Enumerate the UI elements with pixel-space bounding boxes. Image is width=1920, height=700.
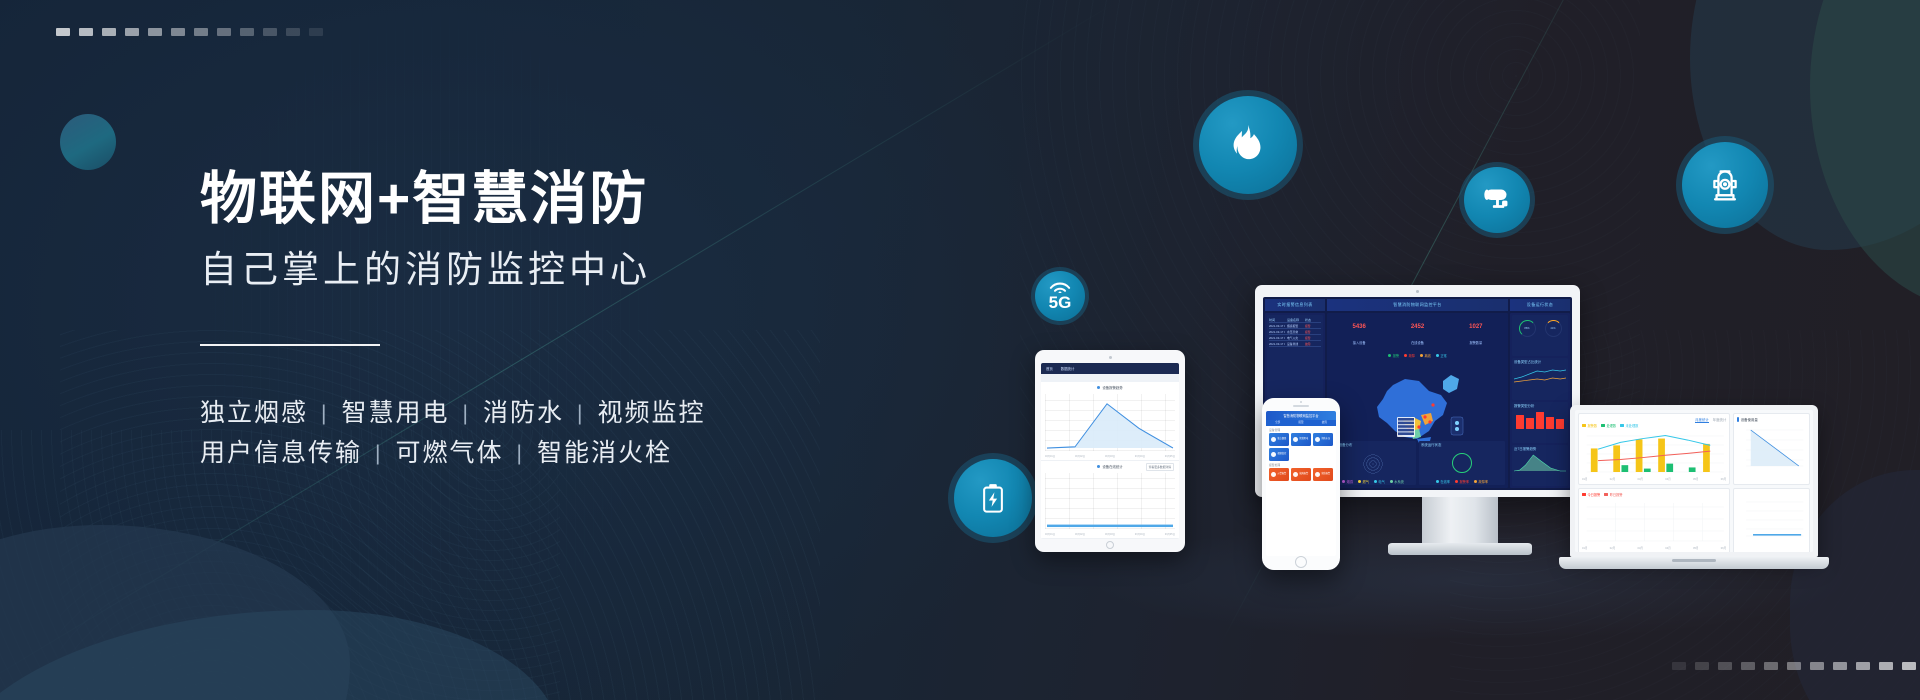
laptop-line-chart-card: 设备使用量 bbox=[1733, 413, 1810, 485]
dash-mark bbox=[1879, 662, 1893, 670]
tablet-chart-section-2: 查看更多数据详情 设备在线统计 03月01日03月02日03月03日03月04日… bbox=[1041, 461, 1179, 540]
tile-label: 故障报警 bbox=[1299, 473, 1308, 476]
axis-tick: 03月03日 bbox=[1105, 532, 1115, 536]
nav-item[interactable]: 首页 bbox=[1046, 366, 1053, 371]
axis-tick: 06月 bbox=[1721, 546, 1726, 550]
ripple-graphic bbox=[1362, 453, 1384, 475]
sparkline bbox=[1514, 365, 1566, 385]
tile-label: 消防水压 bbox=[1321, 438, 1330, 441]
chart-legend: 报警数处理数未处理数 bbox=[1582, 423, 1726, 428]
tablet-chart-section-1: 设备报警趋势 03月01日03月02日03月03日03月04日03月05日 bbox=[1041, 382, 1179, 461]
bar bbox=[1703, 444, 1710, 472]
dash-mark bbox=[263, 28, 277, 36]
table-header-cell: 状态 bbox=[1305, 318, 1321, 322]
tablet-camera-dot bbox=[1109, 356, 1112, 359]
bottom-grid-plot bbox=[1582, 499, 1726, 545]
area-chart bbox=[1514, 452, 1566, 472]
weekly-trend-panel: 近7日报警趋势 bbox=[1512, 445, 1568, 486]
laptop-screen: 月度统计年度统计 报警数处理数未处理数 01月02月03月04月05月06月 设… bbox=[1575, 410, 1813, 552]
feature-item[interactable]: 智能消火栓 bbox=[537, 434, 672, 474]
legend-item: 故障率 bbox=[1474, 479, 1488, 484]
table-cell: 2021-03-17 15:22 bbox=[1269, 330, 1285, 334]
dash-mark bbox=[102, 28, 116, 36]
phone-tile[interactable]: 故障报警 bbox=[1291, 468, 1311, 481]
axis-tick: 03月01日 bbox=[1045, 532, 1055, 536]
phone-group-label-2: 报警处理 bbox=[1266, 461, 1336, 468]
tile-label: 独立烟感 bbox=[1278, 438, 1287, 441]
legend-item: 昨日报警 bbox=[1604, 492, 1622, 497]
monitor-bottom-panels: 区域设备分布 烟感燃气电气水系统 系统运行状态 在线率报警率故障率 bbox=[1330, 441, 1505, 485]
axis-tick: 05月 bbox=[1693, 546, 1698, 550]
tablet-subbar bbox=[1041, 374, 1179, 382]
axis-tick: 03月04日 bbox=[1135, 532, 1145, 536]
legend-item: 正常 bbox=[1436, 353, 1447, 358]
feature-list: 独立烟感|智慧用电|消防水|视频监控 用户信息传输|可燃气体|智能消火栓 bbox=[200, 394, 705, 473]
dash-mark bbox=[1810, 662, 1824, 670]
bottom-panel-left: 区域设备分布 烟感燃气电气水系统 bbox=[1330, 441, 1416, 485]
monitor-panel-title-center: 智慧消防物联网监控平台 bbox=[1327, 299, 1508, 311]
bar bbox=[1613, 445, 1620, 472]
tablet-screen: 首页数据统计 设备报警趋势 03月01日03月02日03月03日03月04日03… bbox=[1041, 363, 1179, 539]
decorative-circle-top-left bbox=[60, 114, 116, 170]
bottom-legend: 今日报警昨日报警 bbox=[1582, 492, 1726, 497]
tile-icon bbox=[1293, 472, 1298, 477]
table-cell: 2021-03-17 12:51 bbox=[1269, 342, 1285, 346]
feature-separator: | bbox=[577, 397, 584, 430]
phone-blue-tiles[interactable]: 独立烟感智慧用电消防水压视频监控 bbox=[1266, 433, 1336, 461]
legend-item: 今日报警 bbox=[1582, 492, 1600, 497]
phone-group-label-1: 设备管理 bbox=[1266, 426, 1336, 433]
legend-item: 处理数 bbox=[1601, 423, 1616, 428]
flame-icon bbox=[1225, 122, 1271, 168]
phone-screen: 智慧消防物联网监控平台 全部报警故障 设备管理 独立烟感智慧用电消防水压视频监控… bbox=[1266, 411, 1336, 556]
feature-separator: | bbox=[321, 397, 328, 430]
kpi-value: 5436 bbox=[1352, 324, 1365, 331]
trend-panel: 设备类型占比统计 bbox=[1512, 358, 1568, 399]
table-cell: 报警 bbox=[1305, 330, 1321, 334]
axis-tick: 02月 bbox=[1610, 477, 1615, 481]
tablet-home-button[interactable] bbox=[1106, 541, 1114, 549]
dash-mark bbox=[240, 28, 254, 36]
cctv-camera-icon bbox=[1478, 181, 1516, 219]
battery-charge-icon bbox=[974, 479, 1012, 517]
dash-mark bbox=[1764, 662, 1778, 670]
dash-mark bbox=[1856, 662, 1870, 670]
axis-tick: 04月 bbox=[1665, 546, 1670, 550]
5g-label: 5G bbox=[1049, 294, 1072, 311]
line-chart-plot bbox=[1737, 424, 1806, 470]
camera-badge[interactable] bbox=[1459, 162, 1535, 238]
axis-tick: 03月 bbox=[1638, 546, 1643, 550]
kpi-label: 报警数量 bbox=[1469, 341, 1482, 345]
monitor-panel-title-left: 实时报警信息列表 bbox=[1265, 299, 1325, 311]
webcam-dot bbox=[1416, 290, 1419, 293]
decorative-blob-bottom-left-2 bbox=[0, 610, 560, 700]
kpi-label: 在线设备 bbox=[1411, 341, 1424, 345]
bar bbox=[1516, 415, 1524, 429]
phone-tile[interactable]: 火警报警 bbox=[1269, 468, 1289, 481]
dash-mark bbox=[194, 28, 208, 36]
decorative-blob-bottom-left-1 bbox=[0, 525, 350, 700]
bottom-x-axis: 01月02月03月04月05月06月 bbox=[1582, 546, 1726, 550]
chart-x-axis: 01月02月03月04月05月06月 bbox=[1582, 477, 1726, 481]
feature-line-2: 用户信息传输|可燃气体|智能消火栓 bbox=[200, 434, 705, 474]
table-cell: 故障 bbox=[1305, 342, 1321, 346]
tile-label: 离线报警 bbox=[1321, 473, 1330, 476]
tablet-x-axis-1: 03月01日03月02日03月03日03月04日03月05日 bbox=[1045, 454, 1175, 458]
tile-icon bbox=[1315, 437, 1320, 442]
gauge: 86% bbox=[1519, 320, 1536, 337]
bar bbox=[1666, 464, 1673, 472]
phone-home-button[interactable] bbox=[1295, 556, 1307, 568]
dash-mark bbox=[1902, 662, 1916, 670]
flat-line-svg bbox=[1737, 494, 1806, 540]
dash-mark bbox=[56, 28, 70, 36]
fire-hydrant-icon bbox=[1703, 163, 1747, 207]
axis-tick: 03月01日 bbox=[1045, 454, 1055, 458]
monitor-panel-title-right: 设备运行状态 bbox=[1510, 299, 1570, 311]
phone-tile[interactable]: 离线报警 bbox=[1313, 468, 1333, 481]
axis-tick: 06月 bbox=[1721, 477, 1726, 481]
table-cell: 报警 bbox=[1305, 324, 1321, 328]
dash-mark bbox=[1833, 662, 1847, 670]
status-ring bbox=[1452, 453, 1472, 473]
feature-separator: | bbox=[517, 437, 524, 470]
bar bbox=[1556, 419, 1564, 428]
phone-tile[interactable]: 消防水压 bbox=[1313, 433, 1333, 446]
table-cell: 2021-03-17 16:47 bbox=[1269, 324, 1285, 328]
bar bbox=[1644, 469, 1651, 472]
axis-tick: 03月04日 bbox=[1135, 454, 1145, 458]
dash-mark bbox=[1787, 662, 1801, 670]
alarm-type-panel: 报警类型分析 bbox=[1512, 402, 1568, 443]
bar-chart-svg bbox=[1582, 430, 1726, 476]
phone-speaker bbox=[1293, 405, 1309, 407]
dash-row-top-left bbox=[56, 28, 323, 36]
bottom-right-plot bbox=[1737, 494, 1806, 540]
dash-mark bbox=[1741, 662, 1755, 670]
tile-icon bbox=[1271, 452, 1276, 457]
dash-mark bbox=[79, 28, 93, 36]
axis-tick: 01月 bbox=[1582, 546, 1587, 550]
feature-item[interactable]: 智慧用电 bbox=[341, 394, 449, 434]
axis-tick: 04月 bbox=[1665, 477, 1670, 481]
legend-item: 未处理数 bbox=[1620, 423, 1638, 428]
hero-copy: 物联网+智慧消防 自己掌上的消防监控中心 独立烟感|智慧用电|消防水|视频监控 … bbox=[200, 168, 705, 473]
axis-tick: 03月02日 bbox=[1075, 454, 1085, 458]
feature-item[interactable]: 用户信息传输 bbox=[200, 434, 362, 474]
laptop-bottom-right-card bbox=[1733, 488, 1810, 552]
legend-item: 离线 bbox=[1420, 353, 1431, 358]
table-cell: 报警 bbox=[1305, 336, 1321, 340]
bar bbox=[1621, 465, 1628, 472]
bar bbox=[1546, 417, 1554, 429]
bottom-legend-left: 烟感燃气电气水系统 bbox=[1330, 479, 1416, 484]
feature-line-1: 独立烟感|智慧用电|消防水|视频监控 bbox=[200, 394, 705, 434]
tile-label: 视频监控 bbox=[1278, 453, 1287, 456]
more-details-button[interactable]: 查看更多数据详情 bbox=[1146, 463, 1174, 471]
gauge-value: 86% bbox=[1520, 321, 1535, 336]
legend-item: 报警率 bbox=[1455, 479, 1469, 484]
network-badge[interactable]: 5G bbox=[1031, 267, 1089, 325]
feature-separator: | bbox=[375, 437, 382, 470]
feature-item[interactable]: 视频监控 bbox=[597, 394, 705, 434]
table-header-cell: 时间 bbox=[1269, 318, 1285, 322]
feature-item[interactable]: 消防水 bbox=[483, 394, 564, 434]
tile-label: 智慧用电 bbox=[1299, 438, 1308, 441]
fire-badge[interactable] bbox=[1193, 90, 1303, 200]
dash-row-bottom-right bbox=[1672, 662, 1920, 670]
feature-item[interactable]: 可燃气体 bbox=[395, 434, 503, 474]
phone-header: 智慧消防物联网监控平台 bbox=[1266, 411, 1336, 420]
chart-tab[interactable]: 年度统计 bbox=[1713, 417, 1727, 423]
axis-tick: 03月05日 bbox=[1165, 454, 1175, 458]
kpi-value: 2452 bbox=[1411, 324, 1424, 331]
device-showcase: 实时报警信息列表 智慧消防物联网监控平台 设备运行状态 时间设备名称状态2021… bbox=[1120, 285, 1800, 585]
feature-item[interactable]: 独立烟感 bbox=[200, 394, 308, 434]
table-cell: 电气火灾 bbox=[1287, 336, 1303, 340]
axis-tick: 03月03日 bbox=[1105, 454, 1115, 458]
dash-mark bbox=[1718, 662, 1732, 670]
page-subtitle: 自己掌上的消防监控中心 bbox=[200, 248, 705, 292]
axis-tick: 05月 bbox=[1693, 477, 1698, 481]
tablet-x-axis-2: 03月01日03月02日03月03日03月04日03月05日 bbox=[1045, 532, 1175, 536]
hydrant-badge[interactable] bbox=[1676, 136, 1774, 234]
axis-tick: 03月05日 bbox=[1165, 532, 1175, 536]
phone-tile[interactable]: 智慧用电 bbox=[1291, 433, 1311, 446]
map-legend: 报警故障离线正常 bbox=[1330, 353, 1505, 358]
monitor-right-panels: 86%41% 设备类型占比统计 报警类型分析 近7日报警趋 bbox=[1510, 313, 1570, 488]
bar bbox=[1591, 448, 1598, 472]
gauge-value: 41% bbox=[1546, 321, 1561, 336]
dash-mark bbox=[1672, 662, 1686, 670]
phone-tile[interactable]: 独立烟感 bbox=[1269, 433, 1289, 446]
bar bbox=[1536, 412, 1544, 429]
alarm-type-bars bbox=[1514, 409, 1566, 429]
feature-separator: | bbox=[463, 397, 470, 430]
bar-chart-plot bbox=[1582, 430, 1726, 476]
phone-orange-tiles[interactable]: 火警报警故障报警离线报警 bbox=[1266, 468, 1336, 481]
tile-icon bbox=[1315, 472, 1320, 477]
table-cell: 设备离线 bbox=[1287, 342, 1303, 346]
table-cell: 水压异常 bbox=[1287, 330, 1303, 334]
bar bbox=[1689, 467, 1696, 472]
tablet-area-chart bbox=[1045, 394, 1175, 451]
legend-item: 烟感 bbox=[1342, 479, 1353, 484]
bar bbox=[1526, 418, 1534, 428]
legend-item: 燃气 bbox=[1358, 479, 1369, 484]
dash-mark bbox=[148, 28, 162, 36]
legend-item: 报警数 bbox=[1582, 423, 1597, 428]
tablet-nav[interactable]: 首页数据统计 bbox=[1041, 363, 1179, 374]
chart-tab[interactable]: 月度统计 bbox=[1695, 417, 1709, 423]
table-cell: 烟感报警 bbox=[1287, 324, 1303, 328]
axis-tick: 02月 bbox=[1610, 546, 1615, 550]
page-title: 物联网+智慧消防 bbox=[200, 168, 705, 232]
laptop-bar-chart-card: 月度统计年度统计 报警数处理数未处理数 01月02月03月04月05月06月 bbox=[1578, 413, 1730, 485]
tile-icon bbox=[1271, 437, 1276, 442]
hero-banner: 物联网+智慧消防 自己掌上的消防监控中心 独立烟感|智慧用电|消防水|视频监控 … bbox=[0, 0, 1920, 700]
kpi-row: 5436接入设备2452在线设备1027报警数量 bbox=[1330, 324, 1505, 349]
kpi-item: 1027报警数量 bbox=[1469, 324, 1482, 349]
gauge: 41% bbox=[1545, 320, 1562, 337]
dash-mark bbox=[125, 28, 139, 36]
tile-label: 火警报警 bbox=[1278, 473, 1287, 476]
legend-item: 在线率 bbox=[1436, 479, 1450, 484]
table-row[interactable]: 2021-03-17 12:51设备离线故障 bbox=[1269, 341, 1321, 347]
monitor-base bbox=[1388, 543, 1532, 555]
legend-item: 水系统 bbox=[1390, 479, 1404, 484]
axis-tick: 03月02日 bbox=[1075, 532, 1085, 536]
dash-mark bbox=[1695, 662, 1709, 670]
smartphone[interactable]: 智慧消防物联网监控平台 全部报警故障 设备管理 独立烟感智慧用电消防水压视频监控… bbox=[1262, 398, 1340, 570]
tablet[interactable]: 首页数据统计 设备报警趋势 03月01日03月02日03月03日03月04日03… bbox=[1035, 350, 1185, 552]
kpi-item: 2452在线设备 bbox=[1411, 324, 1424, 349]
monitor-map-panel: 5436接入设备2452在线设备1027报警数量 报警故障离线正常 bbox=[1327, 313, 1508, 488]
kpi-item: 5436接入设备 bbox=[1352, 324, 1365, 349]
monitor-neck bbox=[1422, 497, 1498, 545]
laptop-lid: 月度统计年度统计 报警数处理数未处理数 01月02月03月04月05月06月 设… bbox=[1570, 405, 1818, 557]
line-chart-svg bbox=[1737, 424, 1806, 470]
phone-tile[interactable]: 视频监控 bbox=[1269, 448, 1289, 461]
legend-item: 故障 bbox=[1404, 353, 1415, 358]
kpi-value: 1027 bbox=[1469, 324, 1482, 331]
axis-tick: 03月 bbox=[1638, 477, 1643, 481]
legend-item: 报警 bbox=[1388, 353, 1399, 358]
dash-mark bbox=[171, 28, 185, 36]
tablet-flat-chart bbox=[1045, 473, 1175, 530]
phone-camera-dot bbox=[1300, 401, 1302, 403]
legend-item: 电气 bbox=[1374, 479, 1385, 484]
tile-icon bbox=[1271, 472, 1276, 477]
divider bbox=[200, 344, 380, 346]
laptop-bottom-left-card: 今日报警昨日报警 bbox=[1578, 488, 1730, 552]
bar bbox=[1636, 439, 1643, 472]
bottom-grid-svg bbox=[1582, 499, 1726, 545]
power-badge[interactable] bbox=[948, 453, 1038, 543]
kpi-label: 接入设备 bbox=[1353, 341, 1366, 345]
dash-mark bbox=[309, 28, 323, 36]
table-cell: 2021-03-17 14:08 bbox=[1269, 336, 1285, 340]
bottom-panel-right: 系统运行状态 在线率报警率故障率 bbox=[1419, 441, 1505, 485]
5g-signal-icon: 5G bbox=[1049, 282, 1072, 311]
gauge-panel: 86%41% bbox=[1512, 315, 1568, 356]
dash-mark bbox=[286, 28, 300, 36]
decorative-blob-top-right-2 bbox=[1810, 0, 1920, 310]
tile-icon bbox=[1293, 437, 1298, 442]
dash-mark bbox=[217, 28, 231, 36]
laptop[interactable]: 月度统计年度统计 报警数处理数未处理数 01月02月03月04月05月06月 设… bbox=[1570, 405, 1840, 575]
axis-tick: 01月 bbox=[1582, 477, 1587, 481]
nav-item[interactable]: 数据统计 bbox=[1061, 366, 1075, 371]
laptop-base bbox=[1559, 557, 1829, 569]
bottom-legend-right: 在线率报警率故障率 bbox=[1419, 479, 1505, 484]
table-header-cell: 设备名称 bbox=[1287, 318, 1303, 322]
